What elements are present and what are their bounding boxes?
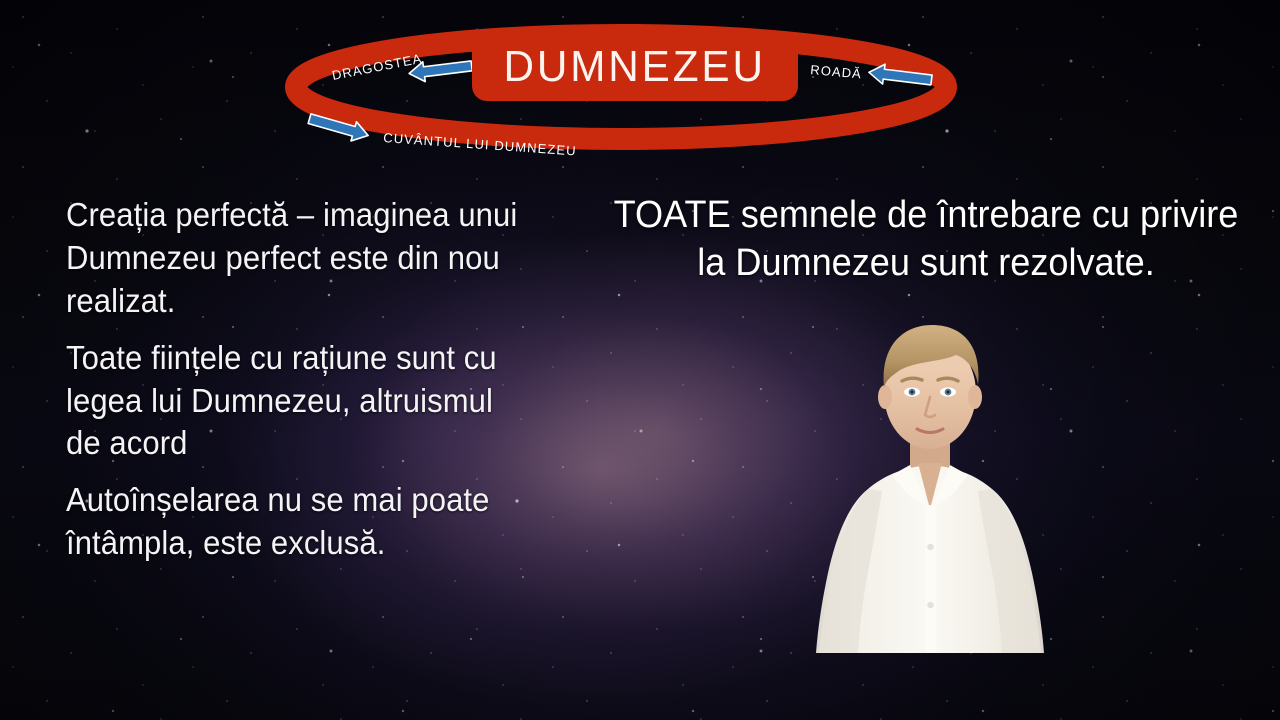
left-text-column: Creația perfectă – imaginea unui Dumneze…: [66, 194, 566, 565]
presenter-button-1: [927, 544, 933, 550]
presenter-pupil-right: [947, 391, 950, 394]
left-paragraph-2: Toate ființele cu rațiune sunt cu legea …: [66, 337, 536, 466]
presenter-photo: [770, 305, 1090, 653]
slide-canvas: DRAGOSTEA ROADĂ CUVÂNTUL LUI DUMNEZEU DU…: [0, 0, 1280, 720]
left-paragraph-3: Autoînșelarea nu se mai poate întâmpla, …: [66, 479, 536, 565]
dumnezeu-box: DUMNEZEU: [472, 33, 798, 101]
ring-label-roada: ROADĂ: [810, 62, 863, 81]
dumnezeu-box-label: DUMNEZEU: [504, 45, 766, 89]
presenter-shirt-placket: [925, 505, 936, 653]
presenter-pupil-left: [911, 391, 914, 394]
right-headline: TOATE semnele de întrebare cu privire la…: [613, 192, 1240, 287]
left-paragraph-1: Creația perfectă – imaginea unui Dumneze…: [66, 194, 536, 323]
presenter-ear-right: [968, 385, 982, 409]
presenter-ear-left: [878, 385, 892, 409]
presenter-button-2: [927, 602, 933, 608]
presenter-illustration: [770, 305, 1090, 653]
